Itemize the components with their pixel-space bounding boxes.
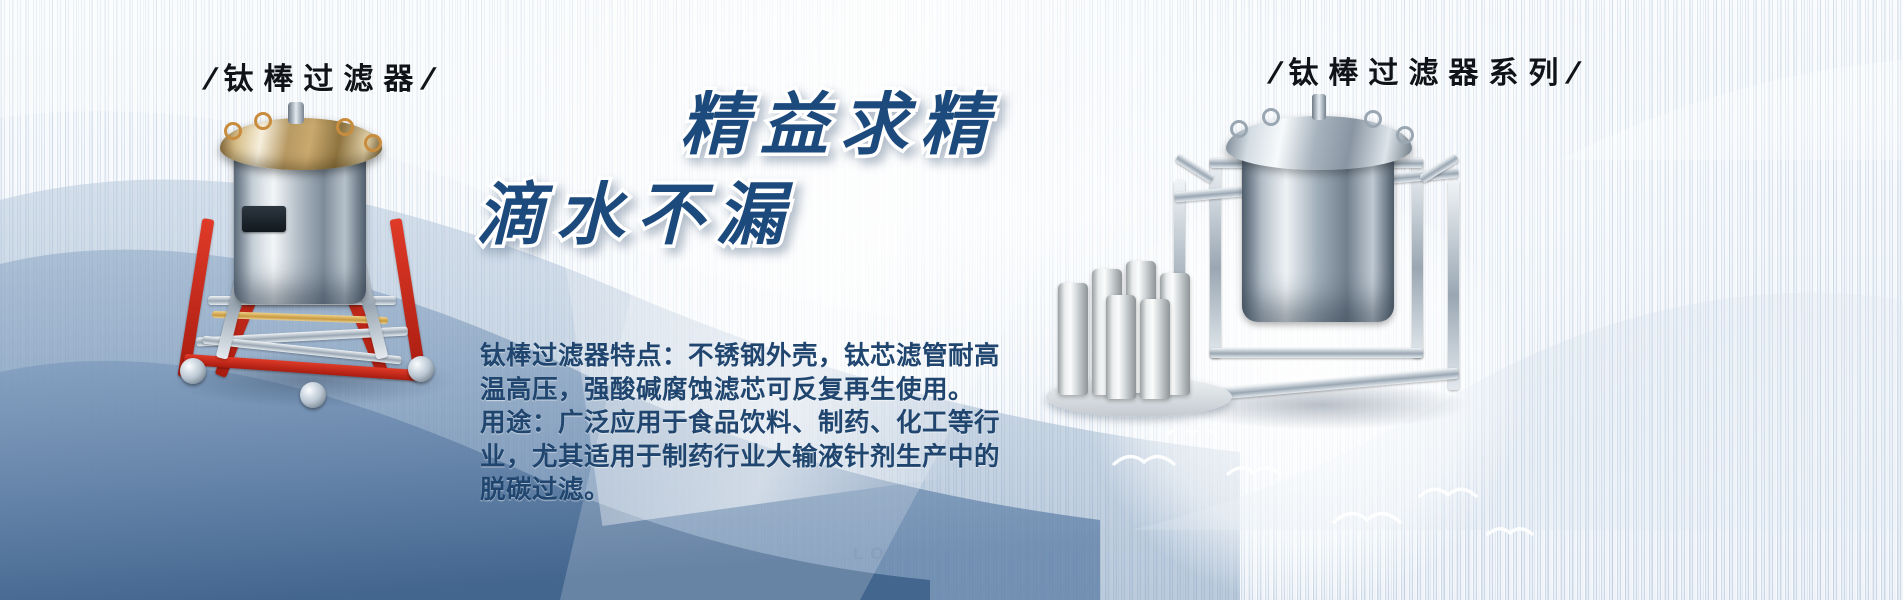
clamp-ring (336, 118, 354, 136)
cage-post (1448, 180, 1459, 390)
description-line: 温高压，强酸碱腐蚀滤芯可反复再生使用。 (480, 374, 1000, 408)
clamp-ring (224, 122, 242, 140)
clamp-ring (1262, 108, 1280, 126)
clamp-ring (1230, 120, 1248, 138)
cartridge (1106, 295, 1136, 399)
filter-vessel-body (1242, 146, 1394, 322)
heading-left-divider-end: / (420, 63, 446, 97)
headline-line-1: 精益求精 (466, 83, 1086, 169)
heading-left: /钛棒过滤器/ (205, 54, 442, 98)
product-banner: /钛棒过滤器/ /钛棒过滤器系列/ 精益求精 滴水不漏 钛棒过滤器特点：不锈钢外… (0, 0, 1903, 600)
headline: 精益求精 滴水不漏 (466, 83, 1086, 258)
cage-post (1412, 158, 1423, 358)
filter-cartridges (1040, 255, 1240, 435)
heading-right-label: 钛棒过滤器系列 (1288, 57, 1568, 90)
clamp-ring (254, 112, 272, 130)
clamp-ring (1364, 110, 1382, 128)
filter-vessel-lid (220, 118, 382, 170)
clamp-ring (364, 134, 382, 152)
description-line: 用途：广泛应用于食品饮料、制药、化工等行 (480, 407, 1000, 441)
product-image-left (150, 100, 480, 420)
heading-right-divider-end: / (1565, 57, 1591, 91)
cage-rail-bottom (1210, 348, 1423, 358)
filter-vessel-lid (1226, 116, 1412, 170)
description-line: 业，尤其适用于制药行业大输液针剂生产中的 (480, 441, 1000, 475)
filter-vessel-vent (288, 102, 304, 124)
description-text: 钛棒过滤器特点：不锈钢外壳，钛芯滤管耐高 温高压，强酸碱腐蚀滤芯可反复再生使用。… (480, 340, 1000, 508)
watermark-text: LOREM IPSUM (0, 544, 1903, 564)
filter-vessel-vent (1312, 94, 1326, 120)
clamp-ring (1396, 126, 1414, 144)
trolley-caster (300, 382, 326, 408)
trolley-caster (180, 358, 206, 384)
description-line: 脱碳过滤。 (480, 474, 1000, 508)
cartridge (1140, 299, 1170, 399)
heading-left-label: 钛棒过滤器 (223, 63, 423, 96)
heading-right: /钛棒过滤器系列/ (1270, 48, 1587, 92)
cartridge (1058, 283, 1088, 395)
headline-line-2: 滴水不漏 (466, 173, 1086, 259)
description-line: 钛棒过滤器特点：不锈钢外壳，钛芯滤管耐高 (480, 340, 1000, 374)
trolley-caster (408, 356, 434, 382)
